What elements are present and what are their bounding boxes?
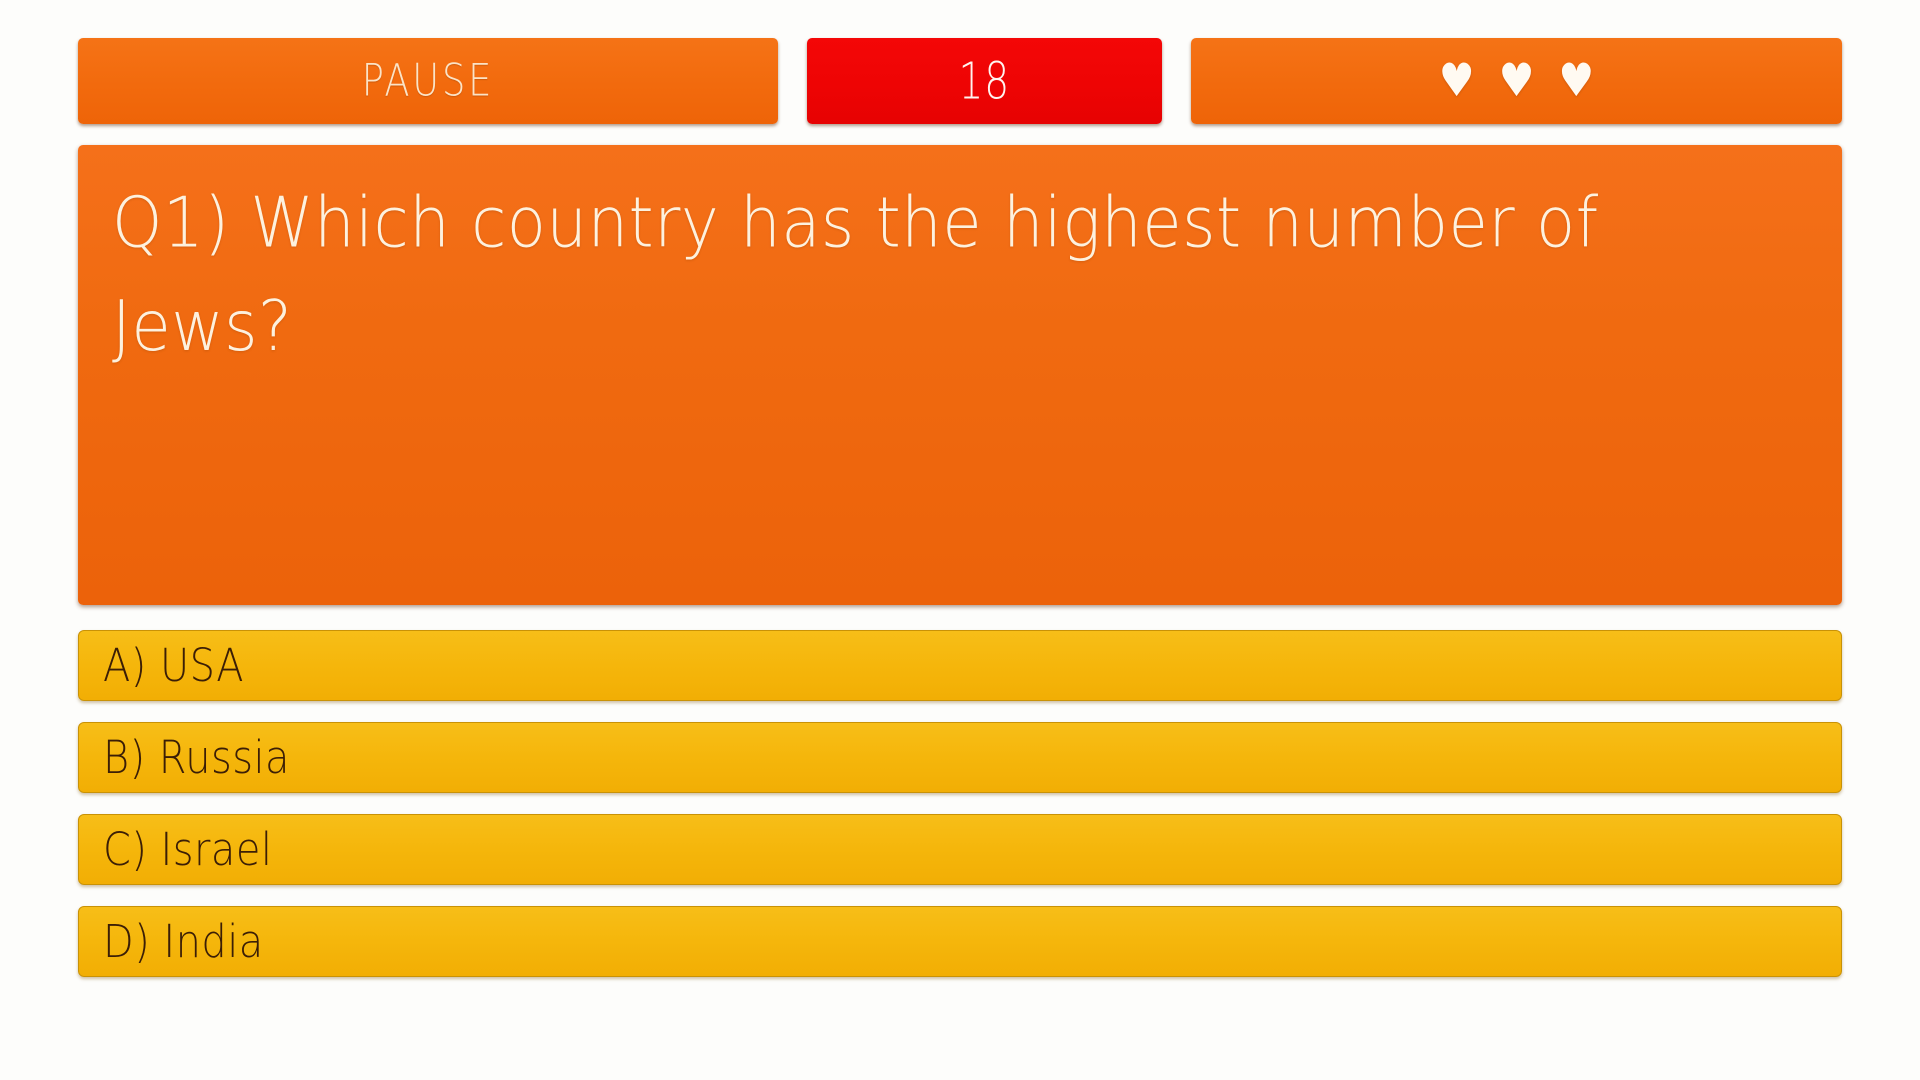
pause-button[interactable]: PAUSE [78,38,778,124]
question-text: Q1) Which country has the highest number… [112,171,1757,378]
question-panel: Q1) Which country has the highest number… [78,145,1842,605]
timer-value: 18 [959,56,1010,107]
heart-icon: ♥ [1558,58,1594,104]
header-bar: PAUSE 18 ♥ ♥ ♥ [78,38,1842,124]
answer-option-d[interactable]: D) India [78,906,1842,977]
timer-panel: 18 [807,38,1162,124]
lives-panel: ♥ ♥ ♥ [1191,38,1842,124]
lives-hearts: ♥ ♥ ♥ [1439,61,1595,101]
heart-icon: ♥ [1439,58,1475,104]
answer-option-b[interactable]: B) Russia [78,722,1842,793]
answer-option-a-label: A) USA [103,643,244,688]
answer-option-b-label: B) Russia [103,735,290,780]
quiz-screen: PAUSE 18 ♥ ♥ ♥ Q1) Which country has the… [0,0,1920,1080]
answer-option-d-label: D) India [103,919,264,964]
pause-button-label: PAUSE [362,59,494,104]
answer-option-a[interactable]: A) USA [78,630,1842,701]
heart-icon: ♥ [1499,58,1535,104]
answer-option-c[interactable]: C) Israel [78,814,1842,885]
answer-option-c-label: C) Israel [103,827,272,872]
answer-options-list: A) USA B) Russia C) Israel D) India [78,630,1842,977]
